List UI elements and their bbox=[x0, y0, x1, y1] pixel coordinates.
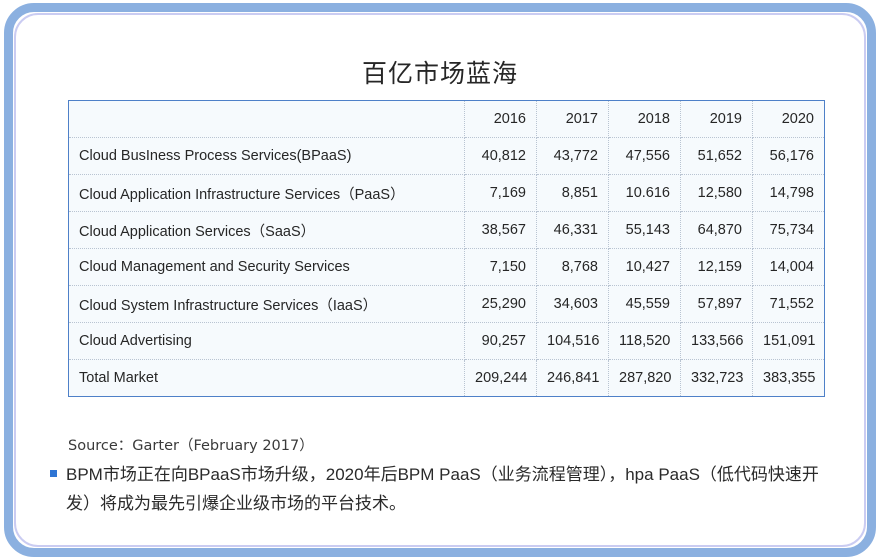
table-row-label: Cloud Advertising bbox=[69, 323, 465, 360]
table-cell: 8,768 bbox=[537, 249, 609, 286]
table-row: Cloud Application Infrastructure Service… bbox=[69, 175, 825, 212]
table-cell: 104,516 bbox=[537, 323, 609, 360]
table-row: Cloud Application Services（SaaS）38,56746… bbox=[69, 212, 825, 249]
table-cell: 332,723 bbox=[681, 360, 753, 397]
source-note: Source：Garter（February 2017） bbox=[68, 434, 314, 455]
table-cell: 12,580 bbox=[681, 175, 753, 212]
table-cell: 383,355 bbox=[753, 360, 825, 397]
square-bullet-icon bbox=[50, 470, 57, 477]
table-row-label: Cloud Application Infrastructure Service… bbox=[69, 175, 465, 212]
table-row: Cloud System Infrastructure Services（Iaa… bbox=[69, 286, 825, 323]
table-header-row: 2016 2017 2018 2019 2020 bbox=[69, 101, 825, 138]
table-cell: 7,169 bbox=[465, 175, 537, 212]
table-cell: 209,244 bbox=[465, 360, 537, 397]
table-header-corner bbox=[69, 101, 465, 138]
table-cell: 40,812 bbox=[465, 138, 537, 175]
market-size-table: 2016 2017 2018 2019 2020 Cloud BusIness … bbox=[68, 100, 825, 397]
table-row: Cloud Advertising90,257104,516118,520133… bbox=[69, 323, 825, 360]
table-cell: 287,820 bbox=[609, 360, 681, 397]
slide-frame: 百亿市场蓝海 2016 2017 2018 2019 2020 Cloud Bu… bbox=[0, 0, 880, 560]
table-cell: 34,603 bbox=[537, 286, 609, 323]
table-body: Cloud BusIness Process Services(BPaaS)40… bbox=[69, 138, 825, 397]
table-cell: 43,772 bbox=[537, 138, 609, 175]
table-cell: 25,290 bbox=[465, 286, 537, 323]
table-row: Cloud BusIness Process Services(BPaaS)40… bbox=[69, 138, 825, 175]
table-cell: 151,091 bbox=[753, 323, 825, 360]
table-cell: 10.616 bbox=[609, 175, 681, 212]
table-cell: 8,851 bbox=[537, 175, 609, 212]
table-cell: 90,257 bbox=[465, 323, 537, 360]
market-table-container: 2016 2017 2018 2019 2020 Cloud BusIness … bbox=[68, 100, 824, 397]
table-cell: 51,652 bbox=[681, 138, 753, 175]
table-header-2018: 2018 bbox=[609, 101, 681, 138]
table-cell: 75,734 bbox=[753, 212, 825, 249]
table-row-label: Total Market bbox=[69, 360, 465, 397]
table-cell: 118,520 bbox=[609, 323, 681, 360]
table-header-2016: 2016 bbox=[465, 101, 537, 138]
bullet-note-text: BPM市场正在向BPaaS市场升级，2020年后BPM PaaS（业务流程管理）… bbox=[66, 460, 840, 518]
table-cell: 246,841 bbox=[537, 360, 609, 397]
table-row-label: Cloud Management and Security Services bbox=[69, 249, 465, 286]
table-row-label: Cloud BusIness Process Services(BPaaS) bbox=[69, 138, 465, 175]
table-header-2017: 2017 bbox=[537, 101, 609, 138]
table-header-2020: 2020 bbox=[753, 101, 825, 138]
table-cell: 38,567 bbox=[465, 212, 537, 249]
table-row-label: Cloud Application Services（SaaS） bbox=[69, 212, 465, 249]
table-header-2019: 2019 bbox=[681, 101, 753, 138]
table-cell: 56,176 bbox=[753, 138, 825, 175]
table-cell: 46,331 bbox=[537, 212, 609, 249]
bullet-note: BPM市场正在向BPaaS市场升级，2020年后BPM PaaS（业务流程管理）… bbox=[50, 460, 840, 518]
table-cell: 45,559 bbox=[609, 286, 681, 323]
table-header: 2016 2017 2018 2019 2020 bbox=[69, 101, 825, 138]
table-cell: 10,427 bbox=[609, 249, 681, 286]
slide-content-card: 百亿市场蓝海 2016 2017 2018 2019 2020 Cloud Bu… bbox=[22, 20, 858, 540]
table-cell: 7,150 bbox=[465, 249, 537, 286]
table-cell: 14,798 bbox=[753, 175, 825, 212]
table-row-label: Cloud System Infrastructure Services（Iaa… bbox=[69, 286, 465, 323]
table-cell: 71,552 bbox=[753, 286, 825, 323]
page-title: 百亿市场蓝海 bbox=[22, 54, 858, 90]
table-cell: 64,870 bbox=[681, 212, 753, 249]
table-cell: 133,566 bbox=[681, 323, 753, 360]
table-cell: 47,556 bbox=[609, 138, 681, 175]
table-cell: 12,159 bbox=[681, 249, 753, 286]
table-cell: 57,897 bbox=[681, 286, 753, 323]
table-row: Total Market209,244246,841287,820332,723… bbox=[69, 360, 825, 397]
table-row: Cloud Management and Security Services7,… bbox=[69, 249, 825, 286]
table-cell: 14,004 bbox=[753, 249, 825, 286]
table-cell: 55,143 bbox=[609, 212, 681, 249]
